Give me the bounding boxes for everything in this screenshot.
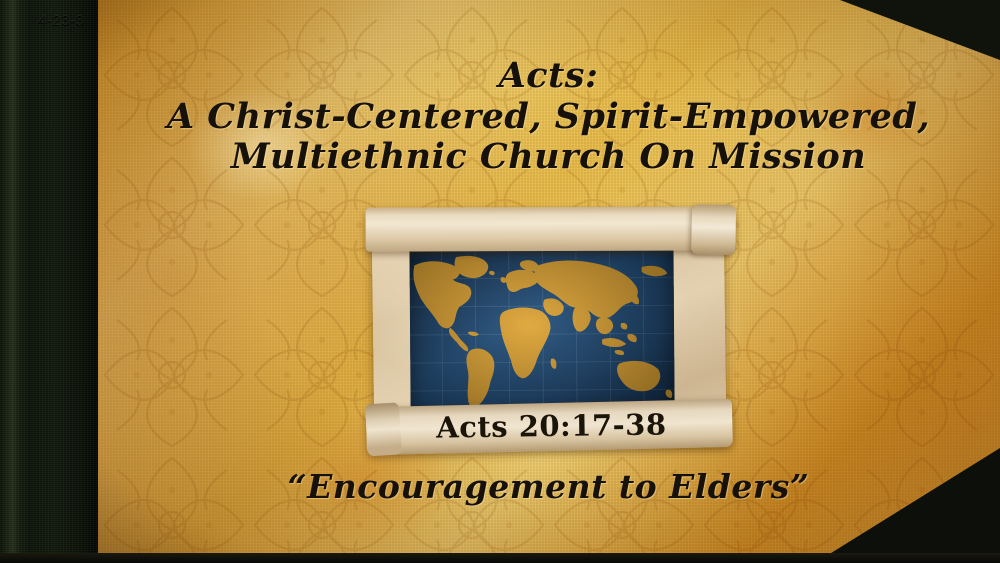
slide-title: Acts: A Christ-Centered, Spirit-Empowere… — [97, 56, 1000, 178]
parchment-scroll: Acts 20:17-38 — [365, 196, 739, 459]
presentation-slide: 4-23-3 Acts: A Christ-Centered, Spirit-E… — [0, 0, 1000, 563]
title-line-1: Acts: — [97, 56, 1000, 97]
verse-reference: Acts 20:17-38 — [368, 406, 734, 445]
world-map-svg — [409, 244, 674, 424]
spine-grain-texture — [0, 0, 98, 563]
scroll-top-roll-cap — [691, 204, 736, 255]
photo-corner-top-right — [840, 0, 1000, 60]
spine-label: 4-23-3 — [38, 12, 84, 29]
title-line-3: Multiethnic Church On Mission — [97, 137, 1000, 178]
book-spine: 4-23-3 — [0, 0, 98, 563]
book-bottom-edge — [0, 553, 1000, 563]
title-line-2: A Christ-Centered, Spirit-Empowered, — [97, 97, 1000, 138]
slide-subtitle: “Encouragement to Elders” — [97, 468, 1000, 506]
scroll-top-roll — [366, 206, 736, 251]
world-map-image — [409, 244, 674, 424]
